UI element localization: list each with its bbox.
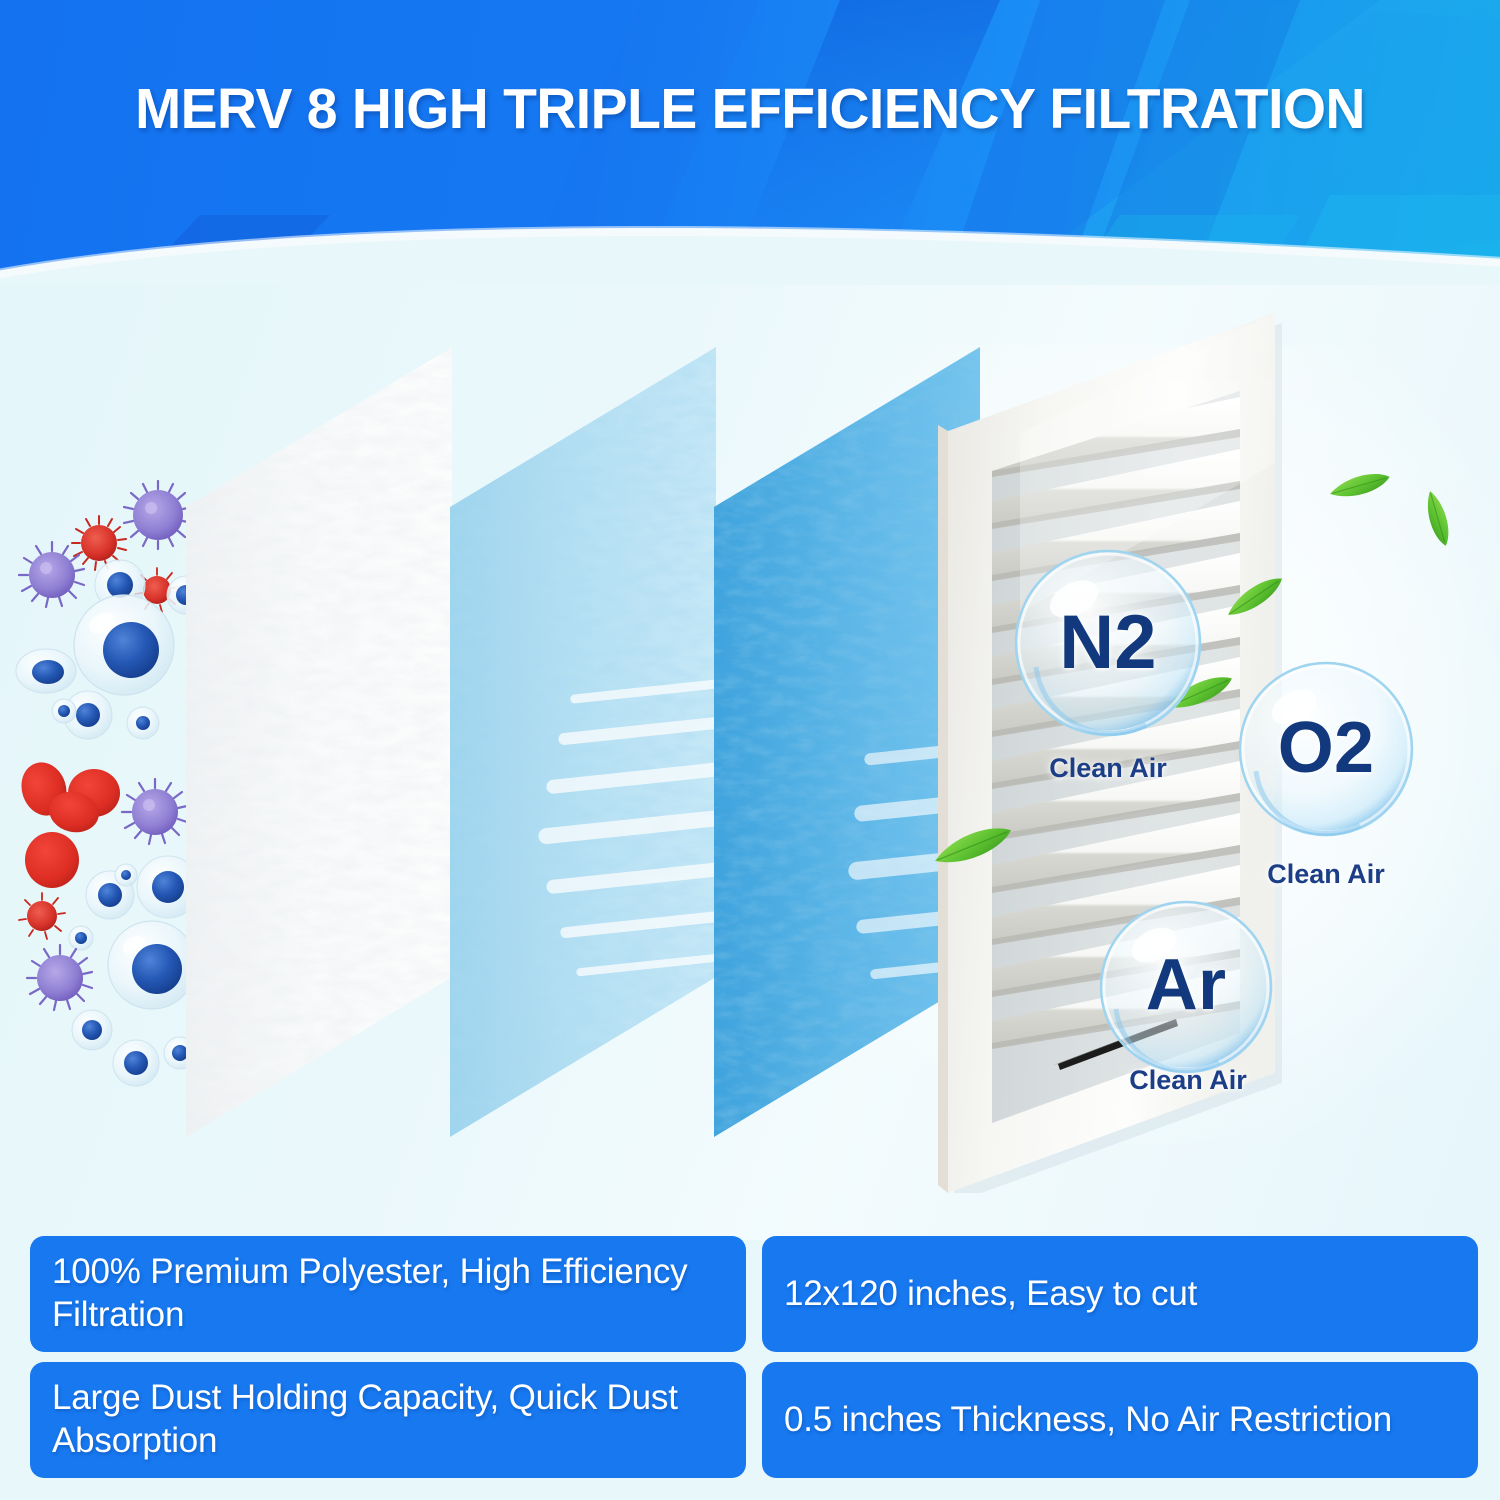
bubble-n2-caption: Clean Air [988, 753, 1228, 784]
leaf-icon [1223, 571, 1287, 622]
feature-box-dimensions: 12x120 inches, Easy to cut [762, 1236, 1478, 1352]
feature-box-polyester: 100% Premium Polyester, High Efficiency … [30, 1236, 746, 1352]
bubble-o2-symbol: O2 [1236, 707, 1416, 789]
product-infographic: MERV 8 HIGH TRIPLE EFFICIENCY FILTRATION [0, 0, 1500, 1500]
feature-box-thickness: 0.5 inches Thickness, No Air Restriction [762, 1362, 1478, 1478]
leaf-icon [931, 819, 1016, 871]
feature-list: 100% Premium Polyester, High Efficiency … [0, 1236, 1500, 1486]
bubble-ar: Ar [1097, 898, 1275, 1076]
leaf-icon [1328, 468, 1393, 502]
bubble-o2: O2 [1236, 659, 1416, 839]
bubble-ar-symbol: Ar [1097, 944, 1275, 1026]
bubble-o2-caption: Clean Air [1206, 859, 1446, 890]
header-banner: MERV 8 HIGH TRIPLE EFFICIENCY FILTRATION [0, 0, 1500, 300]
bubble-n2: N2 [1012, 547, 1204, 739]
bubble-n2-symbol: N2 [1012, 599, 1204, 686]
leaf-icon [1422, 489, 1454, 548]
product-illustration: N2 Clean Air O2 Clean A [0, 285, 1500, 1240]
feature-box-dust-capacity: Large Dust Holding Capacity, Quick Dust … [30, 1362, 746, 1478]
page-title: MERV 8 HIGH TRIPLE EFFICIENCY FILTRATION [23, 76, 1478, 142]
bubble-ar-caption: Clean Air [1068, 1065, 1308, 1096]
